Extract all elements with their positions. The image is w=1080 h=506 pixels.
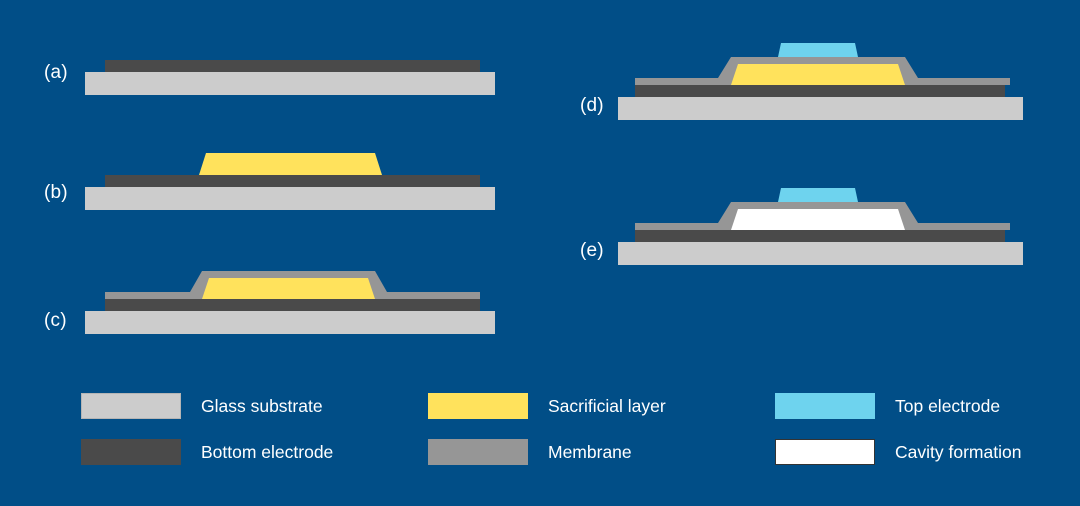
panel-label-a: (a) bbox=[44, 62, 68, 84]
legend-label-bottom-electrode: Bottom electrode bbox=[201, 442, 333, 463]
legend-label-top-electrode: Top electrode bbox=[895, 396, 1000, 417]
legend-item-top-electrode: Top electrode bbox=[775, 393, 1000, 419]
panel-label-e: (e) bbox=[580, 240, 604, 262]
legend-item-bottom-electrode: Bottom electrode bbox=[81, 439, 333, 465]
cavity-formation-void bbox=[731, 209, 905, 230]
legend-item-membrane: Membrane bbox=[428, 439, 632, 465]
legend-item-cavity-formation: Cavity formation bbox=[775, 439, 1021, 465]
panel-label-b: (b) bbox=[44, 182, 68, 204]
top-electrode-layer bbox=[778, 43, 858, 57]
legend-label-glass-substrate: Glass substrate bbox=[201, 396, 323, 417]
bottom-electrode-layer bbox=[105, 60, 480, 72]
glass-substrate-layer bbox=[85, 187, 495, 210]
bottom-electrode-layer bbox=[105, 299, 480, 311]
legend-swatch-cavity-formation bbox=[775, 439, 875, 465]
panel-c-cross-section bbox=[85, 262, 495, 334]
bottom-electrode-layer bbox=[635, 230, 1005, 242]
legend-swatch-sacrificial-layer bbox=[428, 393, 528, 419]
sacrificial-layer bbox=[199, 153, 382, 175]
sacrificial-layer bbox=[731, 64, 905, 85]
panel-b-cross-section bbox=[85, 145, 495, 210]
panel-e-cross-section bbox=[618, 183, 1023, 265]
bottom-electrode-layer bbox=[105, 175, 480, 187]
legend-swatch-bottom-electrode bbox=[81, 439, 181, 465]
top-electrode-layer bbox=[778, 188, 858, 202]
glass-substrate-layer bbox=[85, 72, 495, 95]
glass-substrate-layer bbox=[618, 97, 1023, 120]
legend-swatch-membrane bbox=[428, 439, 528, 465]
legend-swatch-glass-substrate bbox=[81, 393, 181, 419]
legend-label-cavity-formation: Cavity formation bbox=[895, 442, 1021, 463]
legend-item-glass-substrate: Glass substrate bbox=[81, 393, 323, 419]
legend-item-sacrificial-layer: Sacrificial layer bbox=[428, 393, 666, 419]
panel-a-cross-section bbox=[85, 50, 495, 95]
legend-label-membrane: Membrane bbox=[548, 442, 632, 463]
panel-label-d: (d) bbox=[580, 95, 604, 117]
sacrificial-layer bbox=[202, 278, 375, 299]
glass-substrate-layer bbox=[85, 311, 495, 334]
bottom-electrode-layer bbox=[635, 85, 1005, 97]
fabrication-process-diagram: (a) (b) (c) (d) (e) bbox=[0, 0, 1080, 506]
legend-label-sacrificial-layer: Sacrificial layer bbox=[548, 396, 666, 417]
panel-d-cross-section bbox=[618, 38, 1023, 120]
legend-swatch-top-electrode bbox=[775, 393, 875, 419]
glass-substrate-layer bbox=[618, 242, 1023, 265]
panel-label-c: (c) bbox=[44, 310, 67, 332]
